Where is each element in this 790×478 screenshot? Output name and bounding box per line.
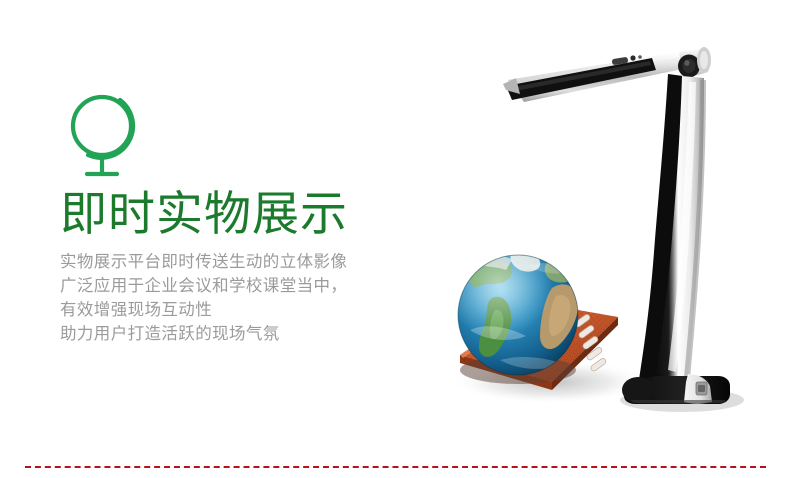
bottom-divider — [25, 466, 766, 468]
product-image — [400, 30, 770, 420]
earth-globe — [458, 251, 578, 384]
description-list: 实物展示平台即时传送生动的立体影像 广泛应用于企业会议和学校课堂当中， 有效增强… — [60, 250, 410, 346]
device-base — [620, 374, 744, 412]
promo-banner: 即时实物展示 实物展示平台即时传送生动的立体影像 广泛应用于企业会议和学校课堂当… — [0, 0, 790, 478]
text-panel: 即时实物展示 实物展示平台即时传送生动的立体影像 广泛应用于企业会议和学校课堂当… — [60, 92, 410, 346]
description-line: 助力用户打造活跃的现场气氛 — [60, 322, 410, 346]
description-line: 实物展示平台即时传送生动的立体影像 — [60, 250, 410, 274]
page-title: 即时实物展示 — [60, 186, 410, 242]
hinge-joint — [678, 47, 711, 78]
description-line: 广泛应用于企业会议和学校课堂当中， — [60, 274, 410, 298]
description-line: 有效增强现场互动性 — [60, 298, 410, 322]
globe-stand-icon — [62, 92, 158, 184]
stand-column — [638, 74, 706, 392]
